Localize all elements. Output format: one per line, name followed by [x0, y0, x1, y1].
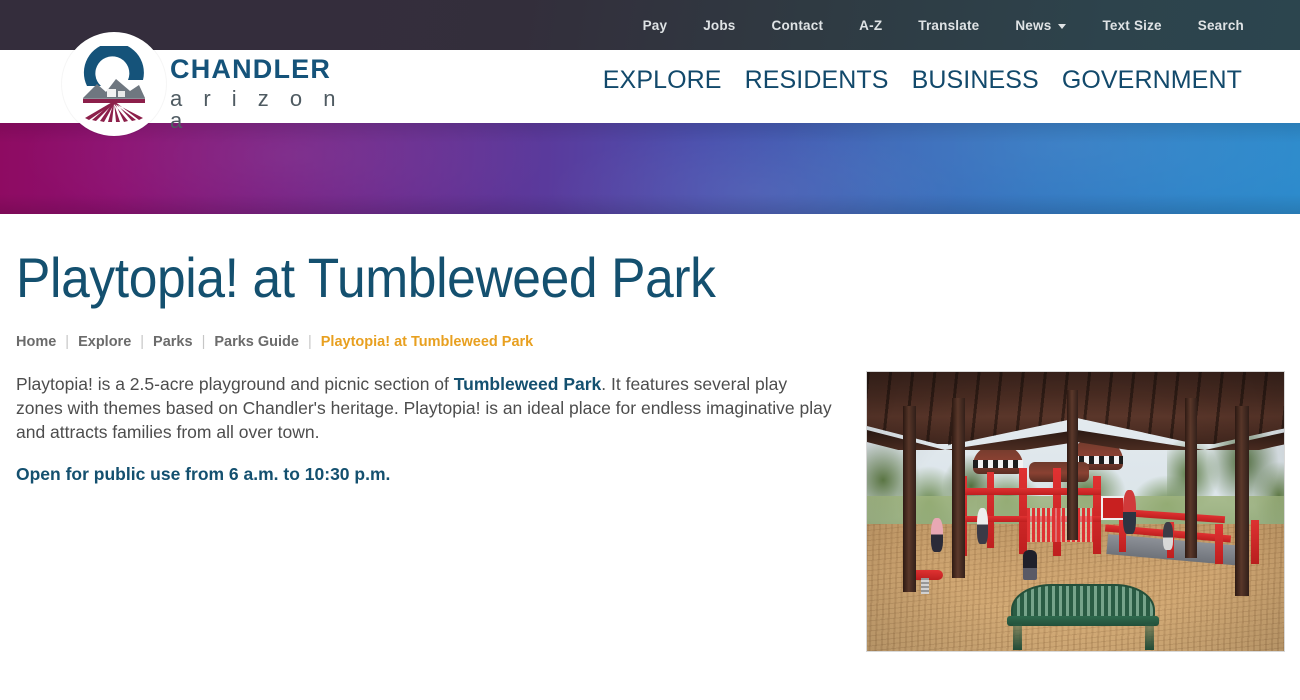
topbar-link-text-size-label: Text Size [1102, 18, 1161, 33]
photo-vignette [867, 372, 1285, 652]
topbar-link-jobs-label: Jobs [703, 18, 735, 33]
site-logo[interactable]: CHANDLER a r i z o n a [62, 32, 317, 136]
hero-gradient-banner [0, 123, 1300, 214]
mainnav-item-explore[interactable]: EXPLORE [603, 66, 722, 95]
breadcrumb-item-current: Playtopia! at Tumbleweed Park [321, 334, 533, 350]
topbar-link-pay-label: Pay [643, 18, 668, 33]
logo-wordmark: CHANDLER a r i z o n a [170, 56, 355, 132]
intro-paragraph: Playtopia! is a 2.5-acre playground and … [16, 372, 836, 444]
logo-primary-text: CHANDLER [170, 54, 331, 84]
park-hours-text: Open for public use from 6 a.m. to 10:30… [16, 464, 390, 485]
tumbleweed-park-link[interactable]: Tumbleweed Park [454, 374, 602, 394]
topbar-link-text-size[interactable]: Text Size [1102, 18, 1161, 33]
main-content: Playtopia! at Tumbleweed Park Home | Exp… [0, 214, 1300, 700]
topbar-link-search-label: Search [1198, 18, 1244, 33]
topbar-link-jobs[interactable]: Jobs [703, 18, 735, 33]
breadcrumb-separator: | [308, 334, 312, 350]
topbar-link-a-z[interactable]: A-Z [859, 18, 882, 33]
breadcrumb-separator: | [140, 334, 144, 350]
topbar-link-pay[interactable]: Pay [643, 18, 668, 33]
breadcrumb-item-parks-guide[interactable]: Parks Guide [214, 334, 299, 350]
main-navigation: EXPLORE RESIDENTS BUSINESS GOVERNMENT [603, 66, 1242, 95]
topbar-link-a-z-label: A-Z [859, 18, 882, 33]
mainnav-item-government[interactable]: GOVERNMENT [1062, 66, 1242, 95]
topbar-link-news[interactable]: News [1015, 18, 1066, 33]
logo-secondary-text: a r i z o n a [170, 88, 355, 132]
breadcrumb-separator: | [202, 334, 206, 350]
topbar-link-translate[interactable]: Translate [918, 18, 979, 33]
topbar-link-contact[interactable]: Contact [772, 18, 824, 33]
mainnav-item-business[interactable]: BUSINESS [912, 66, 1039, 95]
chandler-seal-icon [75, 46, 153, 122]
topbar-link-search[interactable]: Search [1198, 18, 1244, 33]
topbar-link-news-label: News [1015, 18, 1051, 33]
mainnav-item-residents[interactable]: RESIDENTS [745, 66, 889, 95]
chevron-down-icon [1058, 24, 1066, 29]
breadcrumb-item-explore[interactable]: Explore [78, 334, 131, 350]
intro-text-before-link: Playtopia! is a 2.5-acre playground and … [16, 374, 454, 394]
breadcrumb-separator: | [65, 334, 69, 350]
breadcrumb-item-parks[interactable]: Parks [153, 334, 193, 350]
breadcrumb: Home | Explore | Parks | Parks Guide | P… [16, 334, 533, 350]
playground-photo [866, 371, 1285, 652]
page-title: Playtopia! at Tumbleweed Park [16, 250, 716, 306]
topbar-link-translate-label: Translate [918, 18, 979, 33]
topbar-link-contact-label: Contact [772, 18, 824, 33]
breadcrumb-item-home[interactable]: Home [16, 334, 56, 350]
